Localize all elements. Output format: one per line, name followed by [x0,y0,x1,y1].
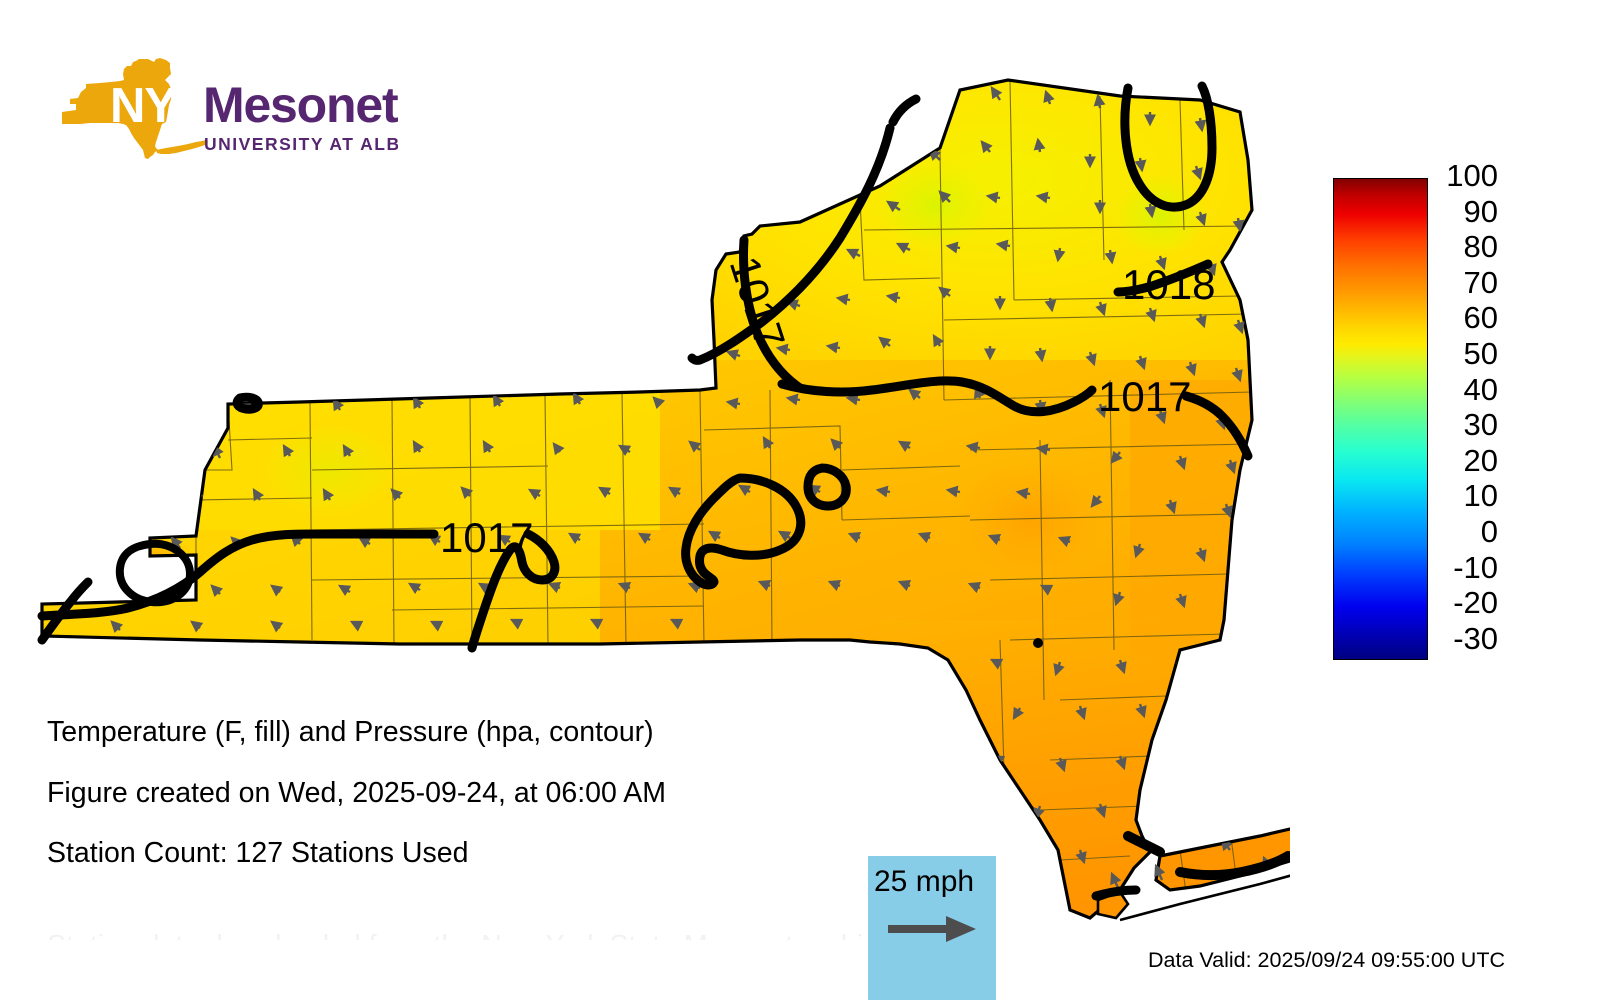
temperature-colorbar [1333,178,1428,660]
wind-legend-label: 25 mph [874,865,974,899]
colorbar-tick-80: 80 [1432,231,1498,262]
colorbar-tick-20: 20 [1432,445,1498,476]
caption-station-count: Station Count: 127 Stations Used [47,839,867,868]
colorbar-tick-50: 50 [1432,338,1498,369]
colorbar-tick-100: 100 [1432,160,1498,191]
contour-label-1018: 1018 [1122,261,1215,308]
wind-legend-arrow-icon [888,914,978,949]
colorbar-tick-60: 60 [1432,302,1498,333]
colorbar-tick-neg30: -30 [1432,623,1498,654]
colorbar-tick-neg20: -20 [1432,587,1498,618]
caption-created: Figure created on Wed, 2025-09-24, at 06… [47,779,867,808]
colorbar-tick-10: 10 [1432,480,1498,511]
logo-text-nys: NYS [110,79,208,133]
figure-caption: Temperature (F, fill) and Pressure (hpa,… [47,718,867,900]
station-marker [1033,638,1043,648]
colorbar-tick-90: 90 [1432,196,1498,227]
contour-label-1017-west: 1017 [440,514,533,561]
colorbar-tick-70: 70 [1432,267,1498,298]
colorbar-tick-neg10: -10 [1432,552,1498,583]
colorbar-tick-labels: 100 90 80 70 60 50 40 30 20 10 0 -10 -20… [1432,160,1592,680]
weather-map-figure: 1018 1017 1017 1017 NYS Mesonet UNIVERSI… [0,0,1600,1000]
logo-text-mesonet: Mesonet [203,77,398,133]
data-valid-timestamp: Data Valid: 2025/09/24 09:55:00 UTC [1148,948,1505,973]
colorbar-tick-0: 0 [1432,516,1498,547]
caption-title: Temperature (F, fill) and Pressure (hpa,… [47,718,867,747]
contour-label-1017-east: 1017 [1098,373,1191,420]
nys-mesonet-logo: NYS Mesonet UNIVERSITY AT ALBANY [48,58,398,208]
logo-text-university: UNIVERSITY AT ALBANY [204,134,398,154]
wind-speed-legend: 25 mph [868,856,996,1000]
colorbar-tick-30: 30 [1432,409,1498,440]
colorbar-tick-40: 40 [1432,374,1498,405]
